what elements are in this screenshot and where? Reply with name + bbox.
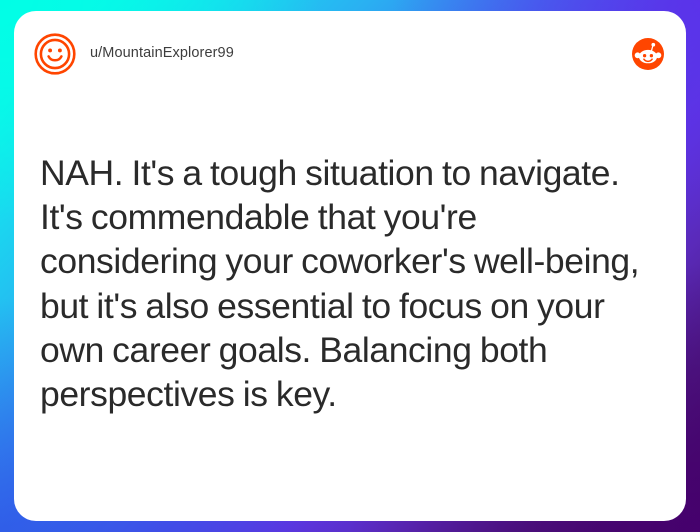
reddit-logo[interactable] (632, 38, 664, 70)
username-label: u/MountainExplorer99 (90, 45, 234, 62)
avatar[interactable] (34, 33, 76, 75)
comment-text: NAH. It's a tough situation to navigate.… (40, 151, 656, 416)
smiley-face-avatar-icon (34, 33, 76, 75)
reddit-snoo-logo-icon (632, 38, 664, 70)
reddit-comment-card: u/MountainExplorer99 NAH. It's a tou (14, 11, 686, 521)
card-header: u/MountainExplorer99 (14, 11, 686, 97)
